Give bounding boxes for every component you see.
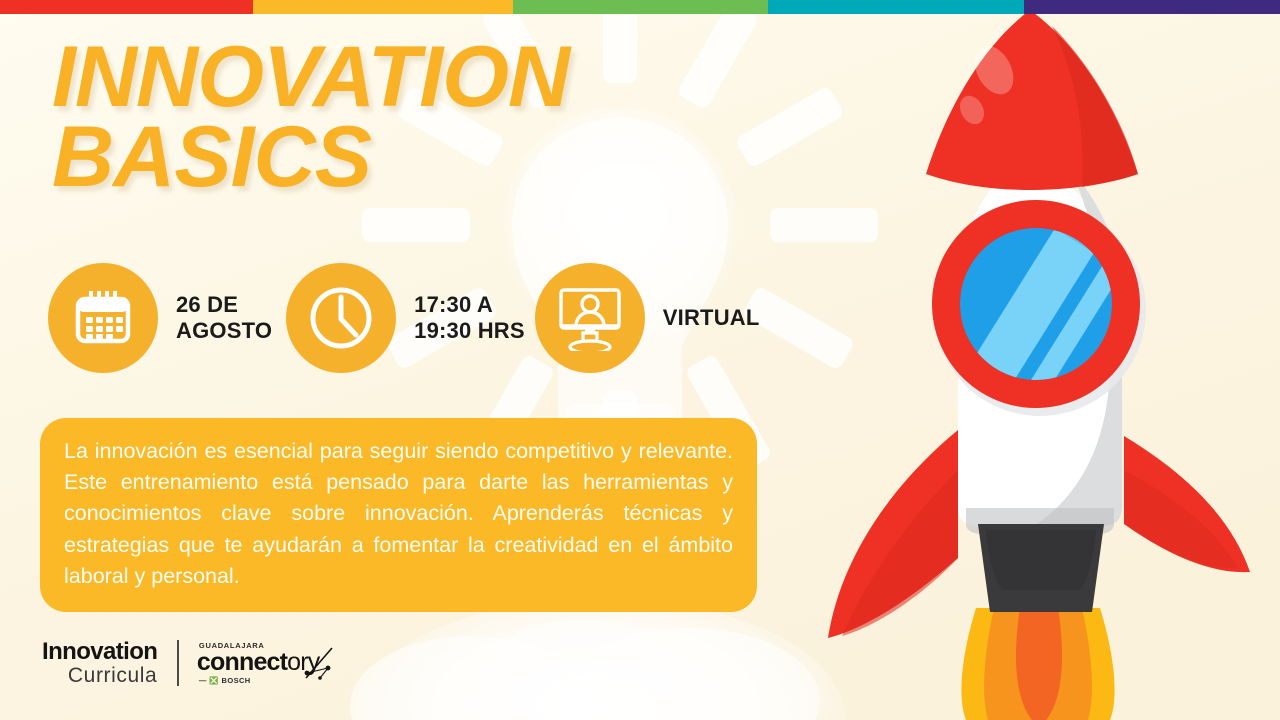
- connectory-node-mark-icon: [302, 646, 336, 680]
- logo-innovation-line1: Innovation: [42, 640, 157, 664]
- info-item-modality: VIRTUAL: [535, 263, 760, 373]
- info-label-date: 26 DE AGOSTO: [176, 292, 272, 344]
- rocket-engine-nozzle: [978, 524, 1104, 612]
- topbar-segment-green: [513, 0, 768, 14]
- logo-divider: [177, 640, 179, 686]
- top-color-bar: [0, 0, 1280, 14]
- rocket-fin-left: [828, 430, 958, 638]
- info-circle-modality: [535, 263, 645, 373]
- description-pill: La innovación es esencial para seguir si…: [40, 418, 757, 612]
- info-circle-date: [48, 263, 158, 373]
- rocket-nose-cone: [926, 10, 1138, 190]
- logo-connectory-word-bold: connect: [197, 648, 287, 676]
- page-title: INNOVATION BASICS: [52, 38, 569, 198]
- rocket-fin-right: [1124, 436, 1250, 572]
- logo-innovation-curricula: Innovation Curricula: [42, 640, 157, 686]
- clock-icon: [306, 283, 376, 353]
- info-item-time: 17:30 A 19:30 HRS: [286, 263, 525, 373]
- info-circle-time: [286, 263, 396, 373]
- topbar-segment-purple: [1024, 0, 1280, 14]
- rocket-flame: [961, 608, 1114, 720]
- title-line-2: BASICS: [52, 118, 569, 198]
- footer-logos: Innovation Curricula GUADALAJARA connect…: [42, 640, 320, 686]
- event-info-row: 26 DE AGOSTO 17:30 A 19:30 HRS: [48, 263, 760, 373]
- calendar-icon: [72, 287, 134, 349]
- topbar-segment-teal: [768, 0, 1024, 14]
- poster-canvas: INNOVATION BASICS: [0, 0, 1280, 720]
- topbar-segment-yellow: [253, 0, 513, 14]
- webinar-monitor-person-icon: [556, 285, 624, 351]
- topbar-segment-red: [0, 0, 253, 14]
- description-text: La innovación es esencial para seguir si…: [64, 436, 733, 592]
- info-label-time: 17:30 A 19:30 HRS: [414, 292, 525, 344]
- logo-guadalajara-connectory: GUADALAJARA connectory — ❎ BOSCH: [197, 642, 320, 685]
- logo-bosch-text: BOSCH: [222, 676, 251, 685]
- rocket-launch-illustration: [780, 0, 1280, 720]
- title-line-1: INNOVATION: [52, 38, 569, 118]
- logo-innovation-line2: Curricula: [42, 665, 157, 686]
- info-item-date: 26 DE AGOSTO: [48, 263, 272, 373]
- info-label-modality: VIRTUAL: [663, 305, 760, 331]
